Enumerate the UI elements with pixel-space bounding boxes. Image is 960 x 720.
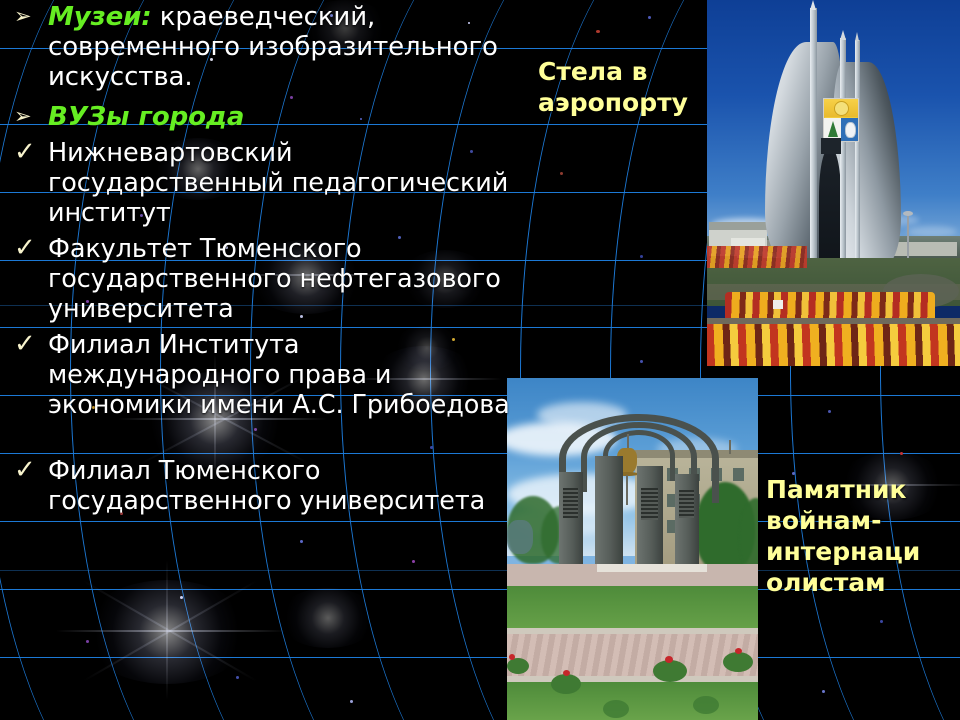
inscription-plate xyxy=(679,490,694,518)
list-item-highlight: Музеи: xyxy=(48,2,152,32)
list-item-text: ВУЗы города xyxy=(48,102,530,132)
star xyxy=(828,410,831,413)
memorial-pylon xyxy=(595,456,623,580)
flower xyxy=(735,648,742,654)
shrub xyxy=(551,674,581,694)
bed-marker xyxy=(773,300,783,309)
star xyxy=(596,30,600,33)
shrub xyxy=(723,652,753,672)
shrub xyxy=(653,660,687,682)
lawn xyxy=(507,682,758,720)
flowerbed xyxy=(707,246,807,268)
list-item[interactable]: ✓ Филиал Института международного права … xyxy=(0,330,530,420)
arms-fir-tree xyxy=(828,121,838,137)
star xyxy=(648,16,651,19)
coat-of-arms-plaque xyxy=(823,98,859,142)
light-pole xyxy=(907,214,909,264)
check-bullet-icon: ✓ xyxy=(0,138,48,165)
list-item[interactable]: ➢ Музеи: краеведческий, современного изо… xyxy=(0,2,530,92)
antenna xyxy=(729,440,731,454)
star xyxy=(822,690,825,693)
list-item[interactable]: ➢ ВУЗы города xyxy=(0,102,530,132)
list-item[interactable]: ✓ Факультет Тюменского государственного … xyxy=(0,234,530,324)
list-item-text: Филиал Института международного права и … xyxy=(48,330,530,420)
bullet-list: ➢ Музеи: краеведческий, современного изо… xyxy=(0,0,540,720)
stele-shadow-gap xyxy=(819,150,841,266)
stele-mast-tip xyxy=(810,0,816,10)
list-item[interactable]: ✓ Нижневартовский государственный педаго… xyxy=(0,138,530,228)
star xyxy=(560,172,563,175)
inscription-plate xyxy=(563,488,578,518)
star xyxy=(640,255,643,258)
flower xyxy=(665,656,673,663)
bed-curb xyxy=(707,318,960,324)
memorial-pylon xyxy=(637,466,663,580)
list-item-text: Филиал Тюменского государственного униве… xyxy=(48,456,530,516)
list-item-highlight: ВУЗы города xyxy=(48,102,244,132)
distant-building-roof xyxy=(709,222,767,230)
caption-airport-stele: Стела в аэропорту xyxy=(538,56,710,118)
star xyxy=(640,360,643,363)
stele-mast-tip xyxy=(840,30,846,40)
stele-mast xyxy=(810,8,817,270)
inscription-plate xyxy=(641,488,658,520)
arms-figure xyxy=(845,122,856,138)
arrow-bullet-icon: ➢ xyxy=(0,102,48,127)
check-bullet-icon: ✓ xyxy=(0,330,48,357)
stele-mast-tip xyxy=(855,32,859,41)
bell-clapper xyxy=(626,475,628,505)
plaque-shadow xyxy=(821,138,841,154)
window xyxy=(733,468,744,481)
stele-mast xyxy=(855,40,860,268)
lawn xyxy=(507,586,758,634)
slide-canvas: Стела в аэропорту xyxy=(0,0,960,720)
check-bullet-icon: ✓ xyxy=(0,456,48,483)
flowerbed xyxy=(707,322,960,366)
check-bullet-icon: ✓ xyxy=(0,234,48,261)
stele-mast xyxy=(840,38,846,270)
arrow-bullet-icon: ➢ xyxy=(0,2,48,27)
list-item-text: Факультет Тюменского государственного не… xyxy=(48,234,530,324)
paved-path xyxy=(507,634,758,680)
list-item-text: Нижневартовский государственный педагоги… xyxy=(48,138,530,228)
flower xyxy=(563,670,570,676)
flower-row xyxy=(597,564,707,572)
photo-airport-stele xyxy=(707,0,960,366)
photo-war-memorial xyxy=(507,378,758,720)
list-item[interactable]: ✓ Филиал Тюменского государственного уни… xyxy=(0,456,530,516)
star xyxy=(880,620,883,623)
caption-war-memorial: Памятник войнам-интернаци олистам xyxy=(766,474,952,598)
shrub xyxy=(693,696,719,714)
list-item-text: Музеи: краеведческий, современного изобр… xyxy=(48,2,530,92)
shrub xyxy=(603,700,629,718)
arms-sun xyxy=(834,101,849,116)
light-pole-head xyxy=(903,211,913,216)
